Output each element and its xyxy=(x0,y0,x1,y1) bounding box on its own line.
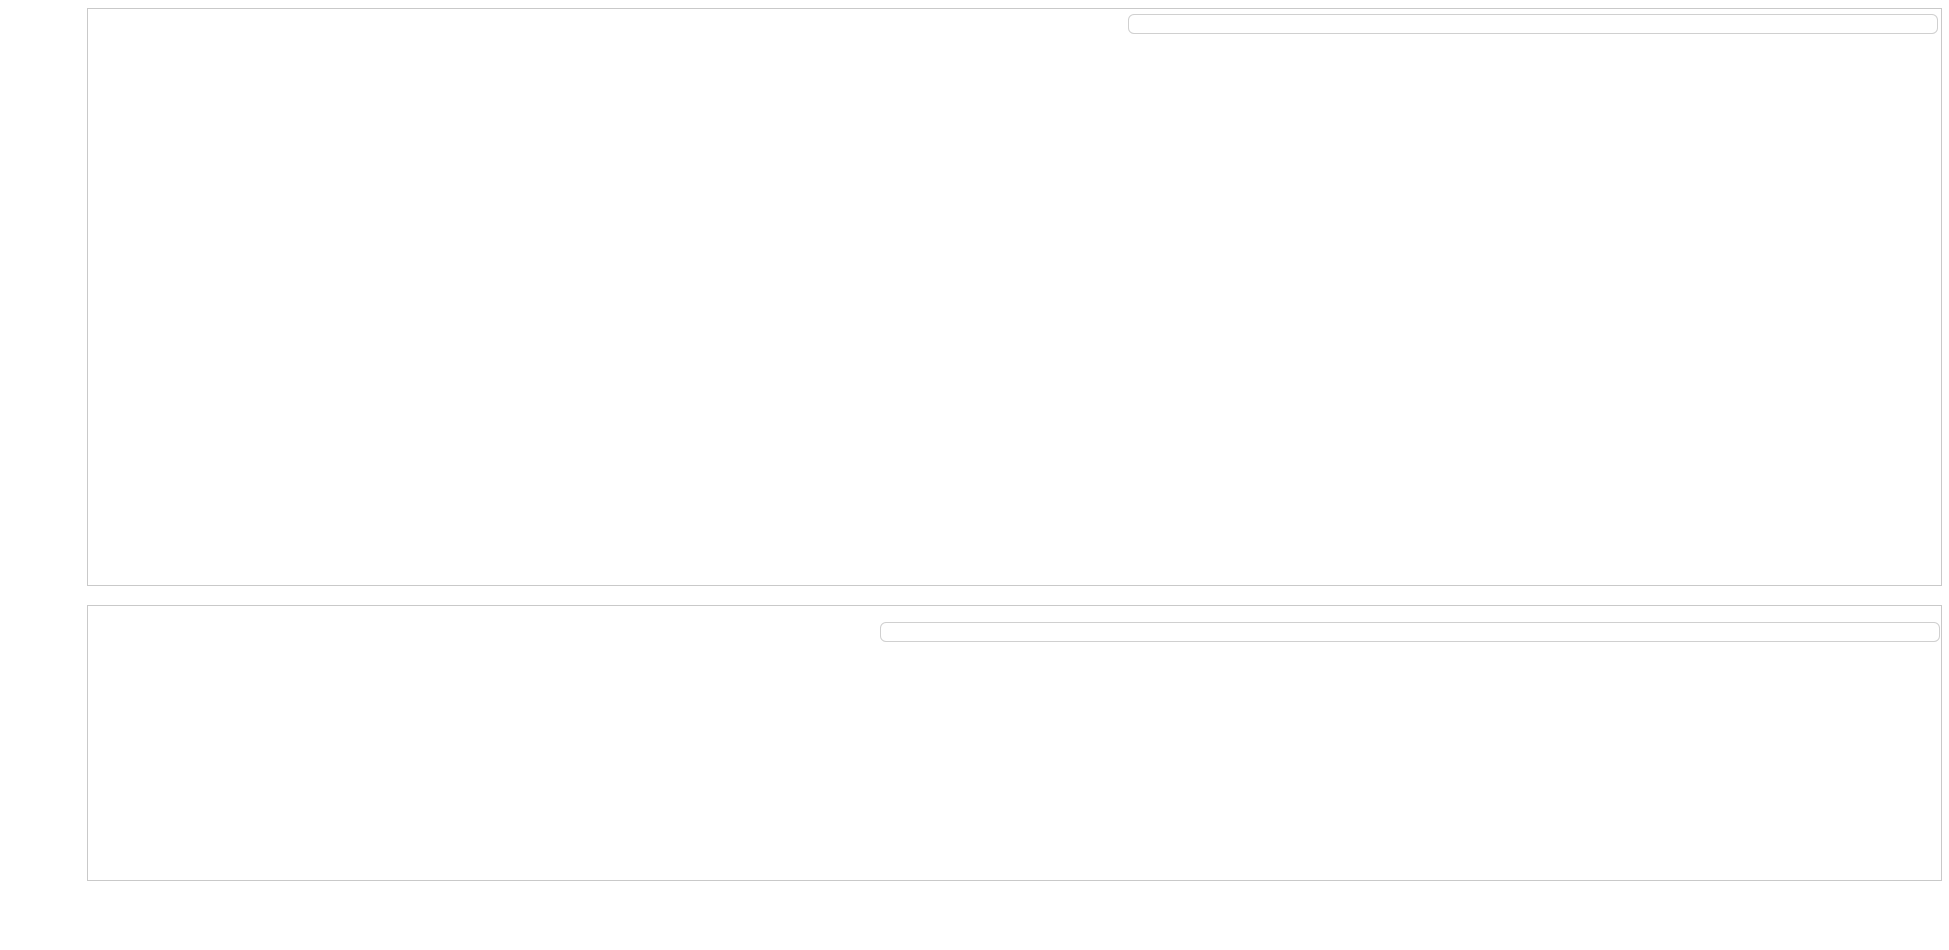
top-panel-y-axis-label xyxy=(27,75,61,395)
bottom-panel-y-axis-label xyxy=(27,525,61,785)
bottom-plot-area xyxy=(88,606,1941,880)
trend-difference-panel xyxy=(87,8,1942,586)
distance-panel xyxy=(87,605,1942,881)
top-panel-legend[interactable] xyxy=(1128,14,1938,34)
bottom-panel-legend[interactable] xyxy=(880,622,1940,642)
top-plot-area xyxy=(88,9,1941,585)
figure-canvas xyxy=(0,0,1949,950)
